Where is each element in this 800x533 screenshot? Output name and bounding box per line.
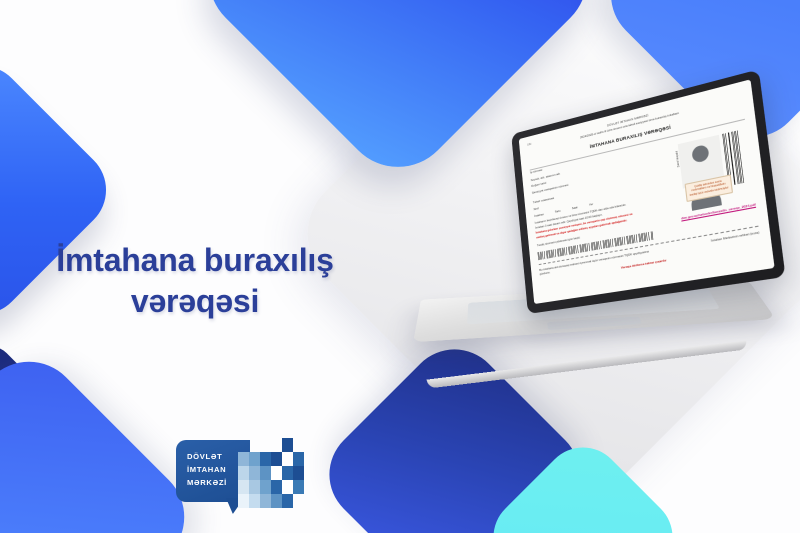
page-title-line-1: İmtahana buraxılış — [20, 240, 370, 281]
logo-mosaic-tile — [271, 452, 282, 466]
logo-mosaic-tile — [238, 466, 249, 480]
logo-mosaic-tile — [249, 466, 260, 480]
logo-mosaic-tile — [238, 452, 249, 466]
exam-time-label: Saat — [572, 205, 578, 211]
logo-mosaic-tile — [238, 480, 249, 494]
page-title-line-2: vərəqəsi — [20, 281, 370, 322]
logo-mosaic-tile — [293, 452, 304, 466]
logo-mosaic-tile — [282, 438, 293, 452]
logo-line-1: DÖVLƏT — [187, 451, 227, 464]
logo-wordmark: DÖVLƏT İMTAHAN MƏRKƏZİ — [187, 451, 227, 489]
logo-mosaic-tile — [249, 494, 260, 508]
logo-mosaic-tile — [293, 480, 304, 494]
laptop-base-lip — [427, 340, 748, 388]
page-title: İmtahana buraxılış vərəqəsi — [20, 240, 370, 322]
dim-logo: DÖVLƏT İMTAHAN MƏRKƏZİ — [176, 438, 304, 516]
logo-mosaic-tile — [249, 480, 260, 494]
person-icon — [691, 144, 709, 164]
laptop-illustration: DİM DÖVLƏT İMTAHAN MƏRKƏZİ 2024/2025-ci … — [418, 128, 790, 393]
exam-label: İmtahan — [534, 212, 544, 218]
document-photo-column: Şəxsi fotoşəkil Çəkiliş tarixindən sonra… — [678, 128, 755, 212]
logo-mosaic-tile — [271, 480, 282, 494]
logo-mosaic-tile — [271, 494, 282, 508]
logo-mosaic-tile — [271, 466, 282, 480]
logo-line-2: İMTAHAN — [187, 464, 227, 477]
exam-date-label: Tarix — [555, 209, 561, 214]
logo-mosaic-tile — [282, 480, 293, 494]
exam-room-label: Yer — [589, 202, 594, 207]
logo-line-3: MƏRKƏZİ — [187, 477, 227, 490]
logo-mosaic-tile — [238, 494, 249, 508]
logo-mosaic-tile — [260, 480, 271, 494]
logo-mosaic-tile — [282, 494, 293, 508]
logo-mosaic-tile — [249, 452, 260, 466]
logo-mosaic-tile — [260, 494, 271, 508]
logo-pixel-mosaic-icon — [238, 438, 304, 508]
poster-canvas: İmtahana buraxılış vərəqəsi DİM DÖVLƏT İ… — [0, 0, 800, 533]
logo-mosaic-tile — [293, 466, 304, 480]
logo-mosaic-tile — [260, 466, 271, 480]
decor-diamond-bottom-left — [0, 340, 206, 533]
logo-mosaic-tile — [282, 466, 293, 480]
logo-mosaic-tile — [260, 452, 271, 466]
